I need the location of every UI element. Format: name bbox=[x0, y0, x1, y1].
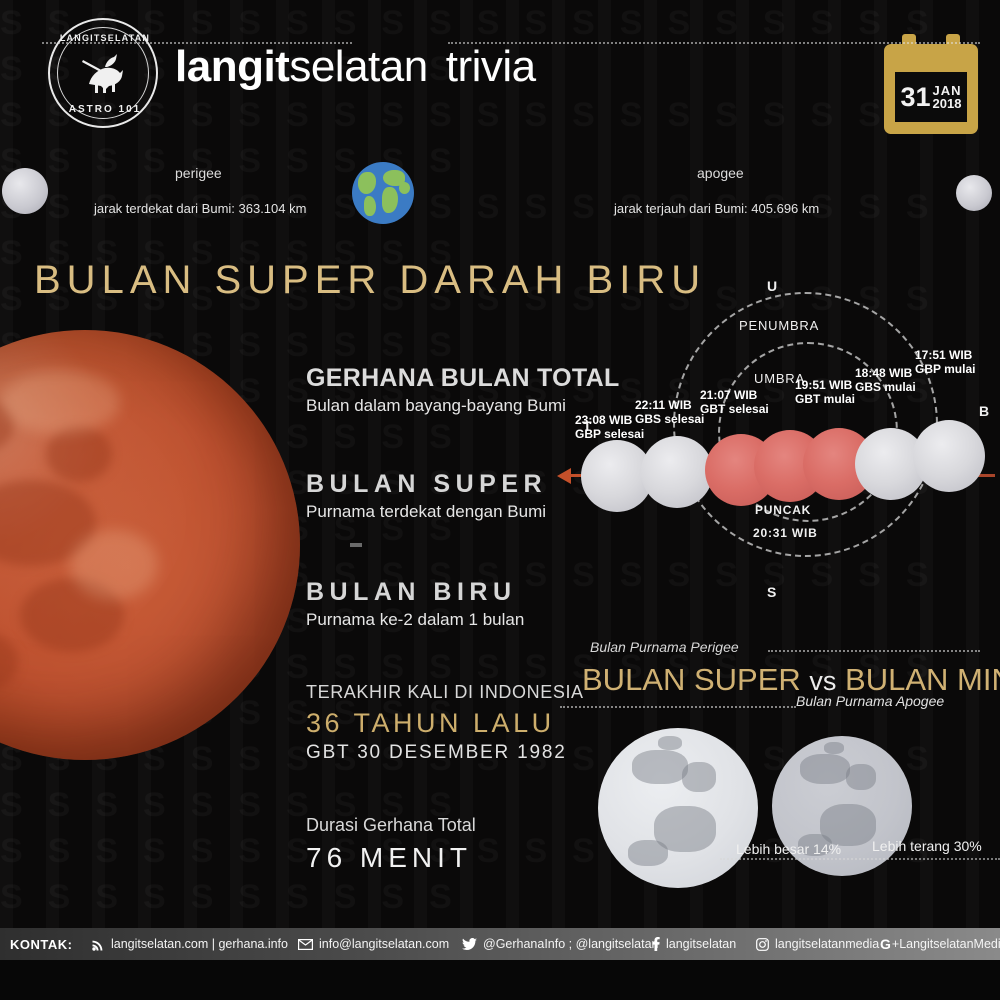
phase-time-4: 18:48 WIB bbox=[855, 366, 912, 380]
earth-icon bbox=[352, 162, 414, 224]
footer-item-email[interactable]: info@langitselatan.com bbox=[298, 928, 449, 960]
wordmark-bold: langit bbox=[175, 42, 289, 91]
cardinal-west-label: B bbox=[979, 403, 990, 419]
terakhir-line2: 36 TAHUN LALU bbox=[306, 708, 584, 739]
horse-rider-emblem-icon bbox=[75, 50, 131, 96]
footer-contact-label: KONTAK: bbox=[10, 928, 72, 960]
footer-item-twitter-text: @GerhanaInfo ; @langitselatan bbox=[483, 937, 658, 951]
penumbra-label: PENUMBRA bbox=[739, 318, 819, 333]
divider-dash bbox=[350, 543, 362, 547]
twitter-icon bbox=[462, 938, 477, 951]
phase-label-3: 19:51 WIB GBT mulai bbox=[795, 378, 855, 406]
phase-time-0: 23:08 WIB bbox=[575, 413, 632, 427]
phase-time-5: 17:51 WIB bbox=[915, 348, 972, 362]
phase-label-1: 22:11 WIB GBS selesai bbox=[635, 398, 704, 426]
phase-moon-1 bbox=[641, 436, 713, 508]
phase-moon-5 bbox=[913, 420, 985, 492]
phase-label-0: 23:08 WIB GBP selesai bbox=[575, 413, 644, 441]
eclipse-path-diagram: U S T B PENUMBRA UMBRA PUNCAK 20:31 WIB … bbox=[555, 278, 1000, 608]
compare-title-left: BULAN SUPER bbox=[582, 662, 801, 697]
compare-line-top bbox=[768, 650, 980, 652]
logo-badge: LANGITSELATAN ASTRO 101 bbox=[48, 18, 158, 128]
envelope-icon bbox=[298, 939, 313, 950]
fact-block-duration: Durasi Gerhana Total 76 MENIT bbox=[306, 815, 476, 874]
logo-bottom-text: ASTRO 101 bbox=[50, 104, 160, 115]
wordmark-light: selatan bbox=[289, 42, 427, 91]
header: LANGITSELATAN ASTRO 101 langitselatantri… bbox=[0, 0, 1000, 150]
wordmark-trivia: trivia bbox=[446, 42, 536, 91]
footer-item-instagram-text: langitselatanmedia bbox=[775, 937, 879, 951]
phase-label-4: 18:48 WIB GBS mulai bbox=[855, 366, 916, 394]
phase-time-2: 21:07 WIB bbox=[700, 388, 757, 402]
perigee-label: perigee bbox=[175, 165, 222, 181]
biru-heading: BULAN BIRU bbox=[306, 578, 524, 607]
rss-icon bbox=[92, 938, 105, 951]
footer-item-website-text: langitselatan.com | gerhana.info bbox=[111, 937, 288, 951]
compare-title-vs: vs bbox=[809, 666, 836, 696]
phase-event-4: GBS mulai bbox=[855, 380, 916, 394]
phase-event-3: GBT mulai bbox=[795, 392, 855, 406]
phase-time-3: 19:51 WIB bbox=[795, 378, 852, 392]
footer-item-website[interactable]: langitselatan.com | gerhana.info bbox=[92, 928, 288, 960]
footer-base bbox=[0, 960, 1000, 1000]
footer-item-facebook-text: langitselatan bbox=[666, 937, 736, 951]
biru-sub: Purnama ke-2 dalam 1 bulan bbox=[306, 610, 524, 630]
calendar-year: 2018 bbox=[933, 97, 962, 110]
fact-block-blue-moon: BULAN BIRU Purnama ke-2 dalam 1 bulan bbox=[306, 578, 524, 630]
caption-size: Lebih besar 14% bbox=[736, 841, 841, 857]
caption-brightness: Lebih terang 30% bbox=[872, 838, 982, 854]
supermoon-vs-minimoon-section: Bulan Purnama Perigee BULAN SUPER vs BUL… bbox=[560, 636, 1000, 896]
compare-title-right: BULAN MINI bbox=[845, 662, 1000, 697]
super-sub: Purnama terdekat dengan Bumi bbox=[306, 502, 547, 522]
compare-bottom-label: Bulan Purnama Apogee bbox=[796, 693, 944, 709]
footer-item-instagram[interactable]: langitselatanmedia bbox=[756, 928, 879, 960]
infographic-canvas: SSSSSSSSSSSSSSSSSSSSSSSSSSSSSS SSSSSSSSS… bbox=[0, 0, 1000, 1000]
fact-block-last-time: TERAKHIR KALI DI INDONESIA 36 TAHUN LALU… bbox=[306, 682, 584, 764]
durasi-line1: Durasi Gerhana Total bbox=[306, 815, 476, 836]
cardinal-north-label: U bbox=[767, 278, 778, 294]
fact-block-super-moon: BULAN SUPER Purnama terdekat dengan Bumi bbox=[306, 470, 547, 522]
blood-moon-image bbox=[0, 330, 300, 760]
calendar-icon: 31 JAN 2018 bbox=[884, 34, 978, 134]
footer-item-facebook[interactable]: langitselatan bbox=[652, 928, 736, 960]
phase-event-1: GBS selesai bbox=[635, 412, 704, 426]
perigee-moon-icon bbox=[2, 168, 48, 214]
phase-time-1: 22:11 WIB bbox=[635, 398, 692, 412]
super-moon-circle bbox=[598, 728, 758, 888]
footer-item-email-text: info@langitselatan.com bbox=[319, 937, 449, 951]
calendar-body: 31 JAN 2018 bbox=[884, 44, 978, 134]
calendar-day: 31 bbox=[900, 84, 930, 111]
phase-event-2: GBT selesai bbox=[700, 402, 769, 416]
terakhir-line3: GBT 30 DESEMBER 1982 bbox=[306, 742, 584, 764]
cardinal-south-label: S bbox=[767, 584, 777, 600]
apogee-moon-icon bbox=[956, 175, 992, 211]
facebook-icon bbox=[652, 937, 660, 951]
footer-item-twitter[interactable]: @GerhanaInfo ; @langitselatan bbox=[462, 928, 658, 960]
phase-label-2: 21:07 WIB GBT selesai bbox=[700, 388, 769, 416]
footer-item-googleplus[interactable]: G +LangitselatanMedia bbox=[880, 928, 1000, 960]
phase-event-5: GBP mulai bbox=[915, 362, 975, 376]
calendar-screen: 31 JAN 2018 bbox=[895, 72, 967, 122]
phase-event-0: GBP selesai bbox=[575, 427, 644, 441]
apogee-distance: jarak terjauh dari Bumi: 405.696 km bbox=[614, 201, 819, 216]
instagram-icon bbox=[756, 938, 769, 951]
peak-label: PUNCAK bbox=[755, 503, 811, 517]
compare-top-label: Bulan Purnama Perigee bbox=[590, 639, 739, 655]
compare-caption-line bbox=[720, 858, 1000, 860]
calendar-month-year: JAN 2018 bbox=[933, 84, 962, 110]
compare-line-bottom bbox=[560, 706, 796, 708]
moon-path-arrow-icon bbox=[557, 468, 571, 484]
apogee-label: apogee bbox=[697, 165, 744, 181]
googleplus-icon: G bbox=[880, 936, 891, 952]
super-heading: BULAN SUPER bbox=[306, 470, 547, 499]
footer-item-googleplus-text: +LangitselatanMedia bbox=[892, 937, 1000, 951]
brand-wordmark: langitselatantrivia bbox=[175, 42, 536, 92]
orbit-line-left bbox=[42, 42, 352, 44]
orbit-line-right bbox=[448, 42, 980, 44]
terakhir-line1: TERAKHIR KALI DI INDONESIA bbox=[306, 682, 584, 703]
phase-label-5: 17:51 WIB GBP mulai bbox=[915, 348, 975, 376]
perigee-distance: jarak terdekat dari Bumi: 363.104 km bbox=[94, 201, 306, 216]
durasi-line2: 76 MENIT bbox=[306, 842, 476, 874]
peak-time: 20:31 WIB bbox=[753, 526, 818, 540]
